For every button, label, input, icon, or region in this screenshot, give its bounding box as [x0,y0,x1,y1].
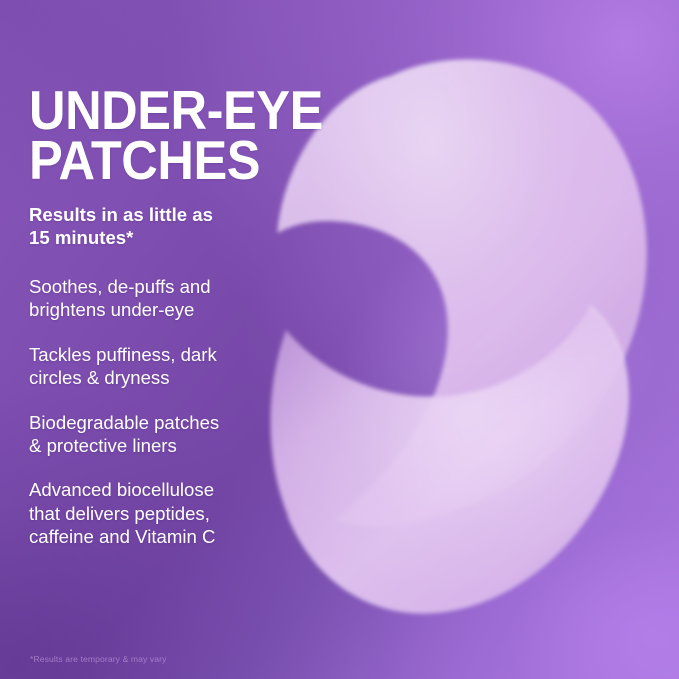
benefit-soothes: Soothes, de-puffs and brightens under-ey… [29,275,277,322]
benefit-biocellulose: Advanced biocellulose that delivers pept… [29,478,277,548]
benefit-list: Results in as little as 15 minutes* Soot… [29,203,277,549]
benefit-biodegradable: Biodegradable patches & protective liner… [29,411,277,458]
footnote-disclaimer: *Results are temporary & may vary [30,654,167,664]
benefit-tackles: Tackles puffiness, dark circles & drynes… [29,343,277,390]
benefit-results-time: Results in as little as 15 minutes* [29,203,277,250]
product-benefit-creative: UNDER-EYE PATCHES Results in as little a… [0,0,679,679]
page-title: UNDER-EYE PATCHES [29,85,333,186]
